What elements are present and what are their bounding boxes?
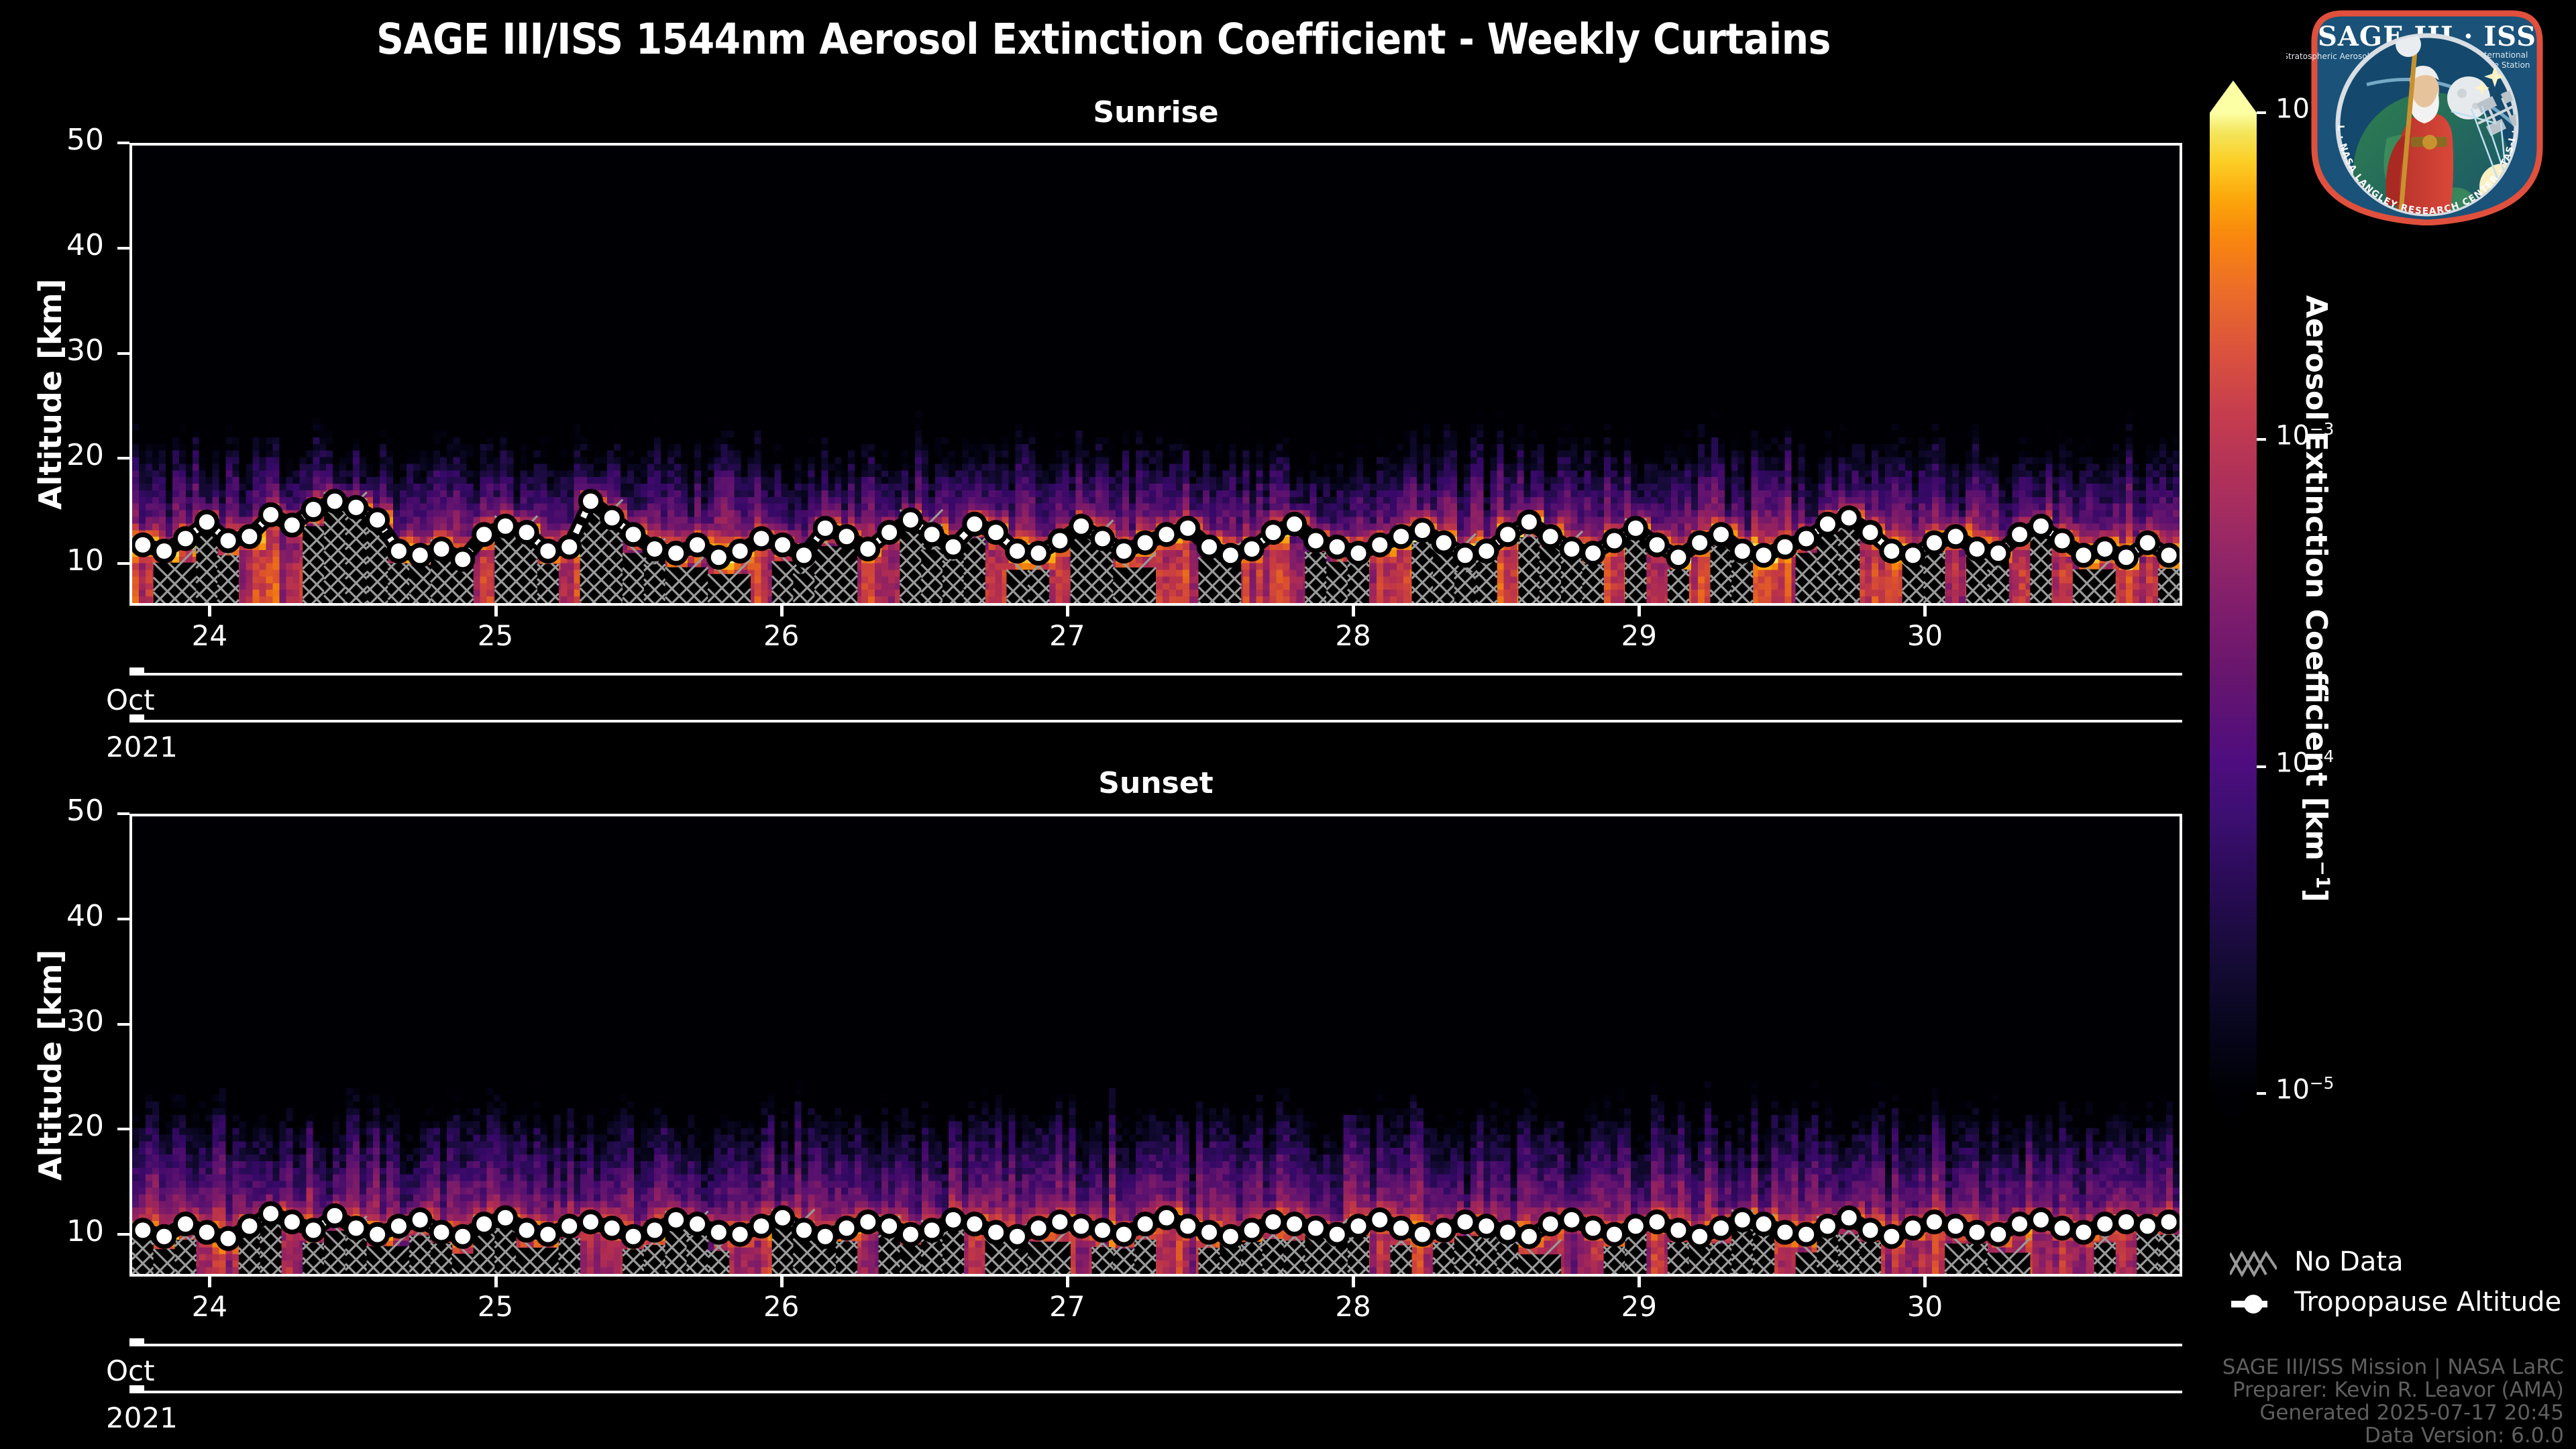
colorbar-tick-mark — [2257, 1092, 2266, 1095]
tropopause-icon — [2230, 1289, 2277, 1319]
legend-label-no-data: No Data — [2294, 1246, 2404, 1277]
colorbar-title-bracket: ] — [2299, 889, 2333, 902]
footer-line-preparer: Preparer: Kevin R. Leavor (AMA) — [2233, 1378, 2564, 1402]
legend-label-tropopause: Tropopause Altitude — [2294, 1287, 2561, 1318]
colorbar-title-exponent: −1 — [2312, 861, 2333, 889]
colorbar-title: Aerosol Extinction Coefficient [km−1] — [2299, 295, 2333, 902]
sage-iii-iss-logo: SAGE III · ISS Stratospheric Aerosol and… — [2286, 4, 2568, 225]
colorbar-tick-mark — [2257, 765, 2266, 768]
colorbar-tick-mark — [2257, 111, 2266, 114]
footer-line-version: Data Version: 6.0.0 — [2365, 1424, 2564, 1448]
colorbar-ticks: 10−210−310−410−5 — [0, 0, 2576, 1449]
colorbar-tick-label: 10−5 — [2275, 1073, 2334, 1105]
footer-line-generated: Generated 2025-07-17 20:45 — [2259, 1401, 2564, 1425]
figure-root: SAGE III/ISS 1544nm Aerosol Extinction C… — [0, 0, 2576, 1449]
colorbar-title-text: Aerosol Extinction Coefficient [km — [2299, 295, 2333, 861]
legend: No Data Tropopause Altitude — [2227, 1248, 2576, 1328]
colorbar-tick-mark — [2257, 438, 2266, 441]
footer-line-mission: SAGE III/ISS Mission | NASA LaRC — [2222, 1355, 2564, 1379]
no-data-icon — [2230, 1249, 2277, 1279]
footer: SAGE III/ISS Mission | NASA LaRC Prepare… — [1945, 1355, 2576, 1449]
